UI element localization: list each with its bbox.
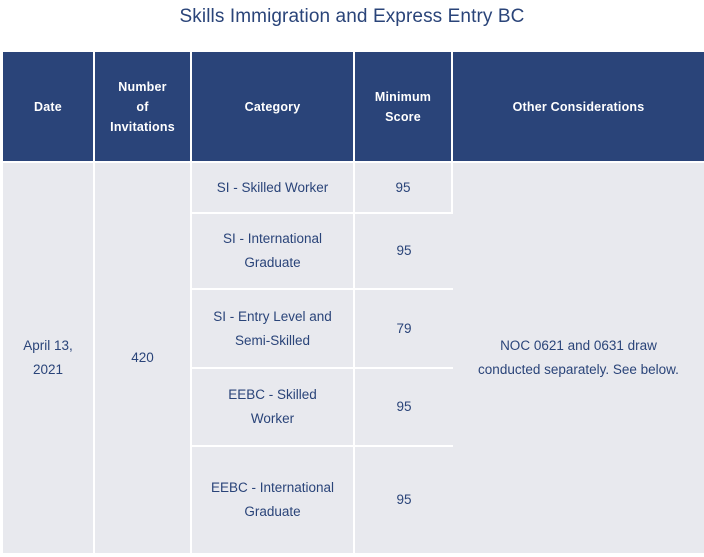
cell-minimum-score: 95 bbox=[355, 447, 453, 555]
cell-category-text: EEBC - International Graduate bbox=[192, 476, 353, 524]
column-header-category-label: Category bbox=[245, 100, 301, 114]
cell-date-line-2: 2021 bbox=[3, 358, 93, 382]
column-header-number-of-invitations[interactable]: Number of Invitations bbox=[95, 52, 192, 163]
column-header-invitations-line-3: Invitations bbox=[110, 120, 175, 134]
page-container: Skills Immigration and Express Entry BC … bbox=[0, 0, 704, 557]
table-body: April 13, 2021 420 SI - Skilled Worker 9… bbox=[3, 163, 704, 555]
cell-category: SI - International Graduate bbox=[192, 214, 355, 290]
cell-category-text: EEBC - Skilled Worker bbox=[192, 383, 353, 431]
column-header-minimum-score[interactable]: Minimum Score bbox=[355, 52, 453, 163]
column-header-invitations-line-1: Number bbox=[118, 80, 166, 94]
cell-other-considerations: NOC 0621 and 0631 draw conducted separat… bbox=[453, 163, 704, 555]
cell-minimum-score: 95 bbox=[355, 163, 453, 214]
column-header-minimum-score-line-2: Score bbox=[385, 110, 421, 124]
cell-category: EEBC - International Graduate bbox=[192, 447, 355, 555]
cell-category: SI - Entry Level and Semi-Skilled bbox=[192, 290, 355, 369]
cell-minimum-score: 79 bbox=[355, 290, 453, 369]
cell-minimum-score: 95 bbox=[355, 369, 453, 447]
column-header-invitations-line-2: of bbox=[136, 100, 148, 114]
draw-results-table-wrapper: Date Number of Invitations Category Mini… bbox=[3, 52, 704, 555]
table-header-row: Date Number of Invitations Category Mini… bbox=[3, 52, 704, 163]
table-header: Date Number of Invitations Category Mini… bbox=[3, 52, 704, 163]
column-header-date[interactable]: Date bbox=[3, 52, 95, 163]
page-title: Skills Immigration and Express Entry BC bbox=[0, 0, 704, 29]
table-row: April 13, 2021 420 SI - Skilled Worker 9… bbox=[3, 163, 704, 214]
column-header-other-considerations-label: Other Considerations bbox=[513, 100, 645, 114]
cell-date: April 13, 2021 bbox=[3, 163, 95, 555]
column-header-category[interactable]: Category bbox=[192, 52, 355, 163]
cell-category: EEBC - Skilled Worker bbox=[192, 369, 355, 447]
column-header-other-considerations[interactable]: Other Considerations bbox=[453, 52, 704, 163]
draw-results-table: Date Number of Invitations Category Mini… bbox=[3, 52, 704, 555]
cell-category-text: SI - Entry Level and Semi-Skilled bbox=[192, 305, 353, 353]
cell-category-text: SI - Skilled Worker bbox=[192, 176, 353, 200]
cell-date-line-1: April 13, bbox=[3, 334, 93, 358]
cell-category: SI - Skilled Worker bbox=[192, 163, 355, 214]
column-header-date-label: Date bbox=[34, 100, 62, 114]
cell-category-text: SI - International Graduate bbox=[192, 227, 353, 275]
cell-minimum-score: 95 bbox=[355, 214, 453, 290]
cell-number-of-invitations: 420 bbox=[95, 163, 192, 555]
column-header-minimum-score-line-1: Minimum bbox=[375, 90, 431, 104]
cell-other-considerations-text: NOC 0621 and 0631 draw conducted separat… bbox=[453, 334, 704, 382]
